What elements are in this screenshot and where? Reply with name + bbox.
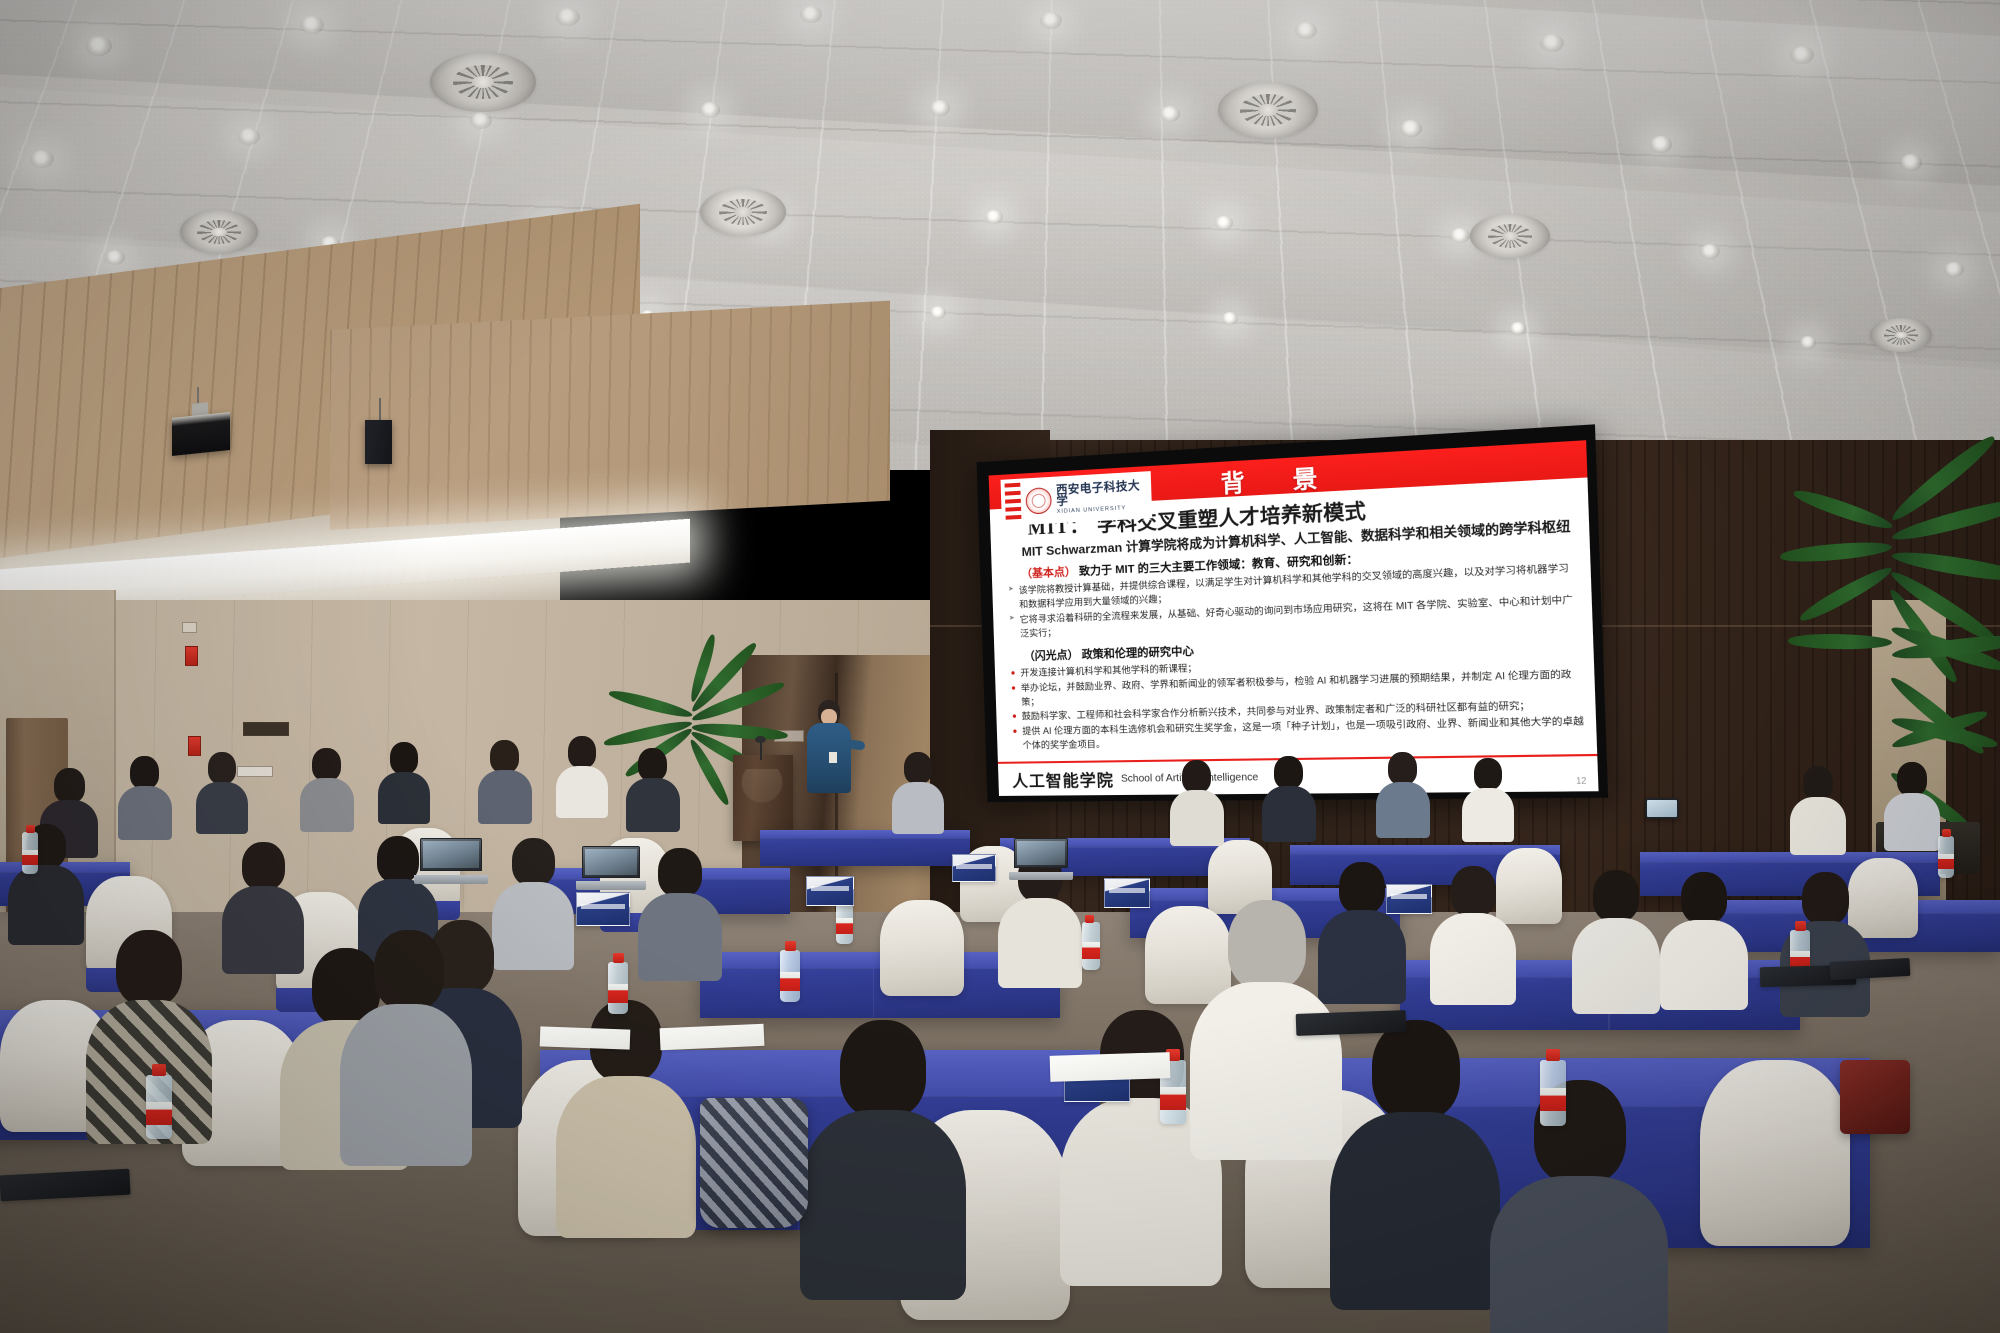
fire-alarm-pull-icon bbox=[185, 646, 198, 666]
attendee bbox=[1572, 870, 1660, 1010]
ceiling-downlight bbox=[1295, 22, 1317, 39]
name-card bbox=[806, 876, 854, 906]
attendee bbox=[1330, 1020, 1500, 1306]
ceiling-air-diffuser bbox=[1218, 82, 1318, 138]
attendee bbox=[340, 930, 472, 1162]
draped-jacket bbox=[700, 1098, 808, 1228]
ceiling-downlight bbox=[930, 306, 946, 319]
wall-outlet-icon bbox=[182, 622, 197, 633]
attendee bbox=[626, 748, 680, 830]
ceiling-downlight bbox=[1650, 136, 1672, 153]
attendee bbox=[196, 752, 248, 832]
attendee bbox=[378, 742, 430, 822]
attendee bbox=[1790, 766, 1846, 852]
conference-table bbox=[760, 830, 970, 866]
ceiling-downlight bbox=[105, 250, 125, 265]
presenter-badge bbox=[829, 752, 837, 763]
round-bullet-icon: ● bbox=[1011, 681, 1016, 696]
attendee-photographing bbox=[1660, 862, 1748, 1004]
water-bottle[interactable] bbox=[1082, 922, 1100, 970]
footer-org-cn: 人工智能学院 bbox=[1012, 766, 1115, 791]
lectern bbox=[733, 755, 793, 841]
ceiling-downlight bbox=[1800, 336, 1816, 349]
tablet-device[interactable] bbox=[1296, 1010, 1407, 1036]
attendee bbox=[638, 848, 722, 978]
attendee bbox=[1376, 752, 1430, 836]
ceiling-downlight bbox=[1160, 106, 1180, 122]
ceiling-air-diffuser bbox=[180, 210, 258, 254]
ceiling-downlight bbox=[30, 150, 54, 168]
ceiling-downlight bbox=[1040, 12, 1062, 29]
ceiling-air-diffuser bbox=[1870, 318, 1932, 352]
water-bottle[interactable] bbox=[146, 1075, 172, 1139]
attendee bbox=[118, 756, 172, 838]
ceiling-downlight bbox=[238, 128, 260, 145]
attendee bbox=[1462, 758, 1514, 840]
ceiling-downlight bbox=[86, 36, 112, 56]
ceiling-downlight bbox=[1450, 228, 1470, 243]
logo-stripes-icon bbox=[1005, 483, 1022, 522]
ceiling-air-diffuser bbox=[430, 52, 536, 112]
projection-screen: 背 景 西安电子科技大学 XIDIAN UNIVERSITY MIT： 学科交叉… bbox=[977, 424, 1609, 802]
document-sheet bbox=[540, 1026, 631, 1049]
attendee bbox=[478, 740, 532, 822]
water-bottle[interactable] bbox=[22, 832, 38, 874]
university-logo: 西安电子科技大学 XIDIAN UNIVERSITY bbox=[1001, 471, 1153, 526]
water-bottle[interactable] bbox=[836, 900, 853, 944]
microphone-icon bbox=[755, 736, 766, 743]
document-sheet bbox=[1050, 1052, 1171, 1082]
university-seal-icon bbox=[1025, 487, 1052, 515]
name-card bbox=[952, 854, 996, 882]
ceiling-downlight bbox=[1510, 322, 1526, 335]
slide-body: MIT： 学科交叉重塑人才培养新模式 MIT Schwarzman 计算学院将成… bbox=[990, 480, 1597, 762]
water-bottle[interactable] bbox=[608, 962, 628, 1014]
section-one-accent-label: （基本点） bbox=[1021, 566, 1076, 580]
wood-slat-paneling-upper-right bbox=[330, 301, 890, 530]
ceiling-downlight bbox=[930, 100, 950, 116]
attendee bbox=[1170, 760, 1224, 844]
room-sign bbox=[243, 722, 289, 736]
conference-room-photo: 背 景 西安电子科技大学 XIDIAN UNIVERSITY MIT： 学科交叉… bbox=[0, 0, 2000, 1333]
section-two-accent-label: （闪光点） bbox=[1024, 649, 1079, 663]
smartphone-icon[interactable] bbox=[1645, 798, 1679, 819]
laptop[interactable] bbox=[420, 838, 482, 884]
microphone-stand bbox=[760, 742, 762, 760]
presenter bbox=[805, 700, 851, 792]
attendee bbox=[800, 1020, 966, 1296]
attendee bbox=[1884, 762, 1940, 848]
name-card bbox=[576, 892, 630, 926]
arrow-bullet-icon: ➤ bbox=[1008, 584, 1014, 597]
laptop[interactable] bbox=[582, 846, 640, 890]
backpack bbox=[1840, 1060, 1910, 1134]
ceiling-air-diffuser bbox=[1470, 214, 1550, 258]
arrow-bullet-icon: ➤ bbox=[1009, 612, 1015, 625]
ceiling-downlight bbox=[1700, 244, 1720, 259]
ceiling-downlight bbox=[700, 102, 720, 118]
ceiling-downlight bbox=[1222, 312, 1238, 325]
attendee bbox=[892, 752, 944, 832]
chair bbox=[880, 900, 964, 996]
attendee bbox=[300, 748, 354, 830]
name-card bbox=[1104, 878, 1150, 908]
section-two-heading-text: 政策和伦理的研究中心 bbox=[1081, 646, 1194, 662]
ceiling-downlight bbox=[985, 210, 1003, 224]
attendee bbox=[8, 824, 84, 942]
attendee bbox=[556, 736, 608, 816]
laptop[interactable] bbox=[1014, 838, 1068, 880]
ceiling-downlight bbox=[1790, 46, 1814, 64]
document-sheet bbox=[660, 1024, 765, 1051]
name-card bbox=[1386, 884, 1432, 914]
lectern-emblem bbox=[739, 769, 785, 829]
round-bullet-icon: ● bbox=[1012, 724, 1017, 739]
water-bottle[interactable] bbox=[1938, 836, 1954, 878]
round-bullet-icon: ● bbox=[1012, 710, 1017, 725]
chair bbox=[1700, 1060, 1850, 1246]
water-bottle[interactable] bbox=[780, 950, 800, 1002]
attendee bbox=[1262, 756, 1316, 840]
ceiling-downlight bbox=[1215, 216, 1233, 230]
university-name-cn: 西安电子科技大学 bbox=[1056, 479, 1152, 508]
wall-mounted-monitor bbox=[172, 412, 230, 456]
round-bullet-icon: ● bbox=[1010, 666, 1015, 681]
ceiling-downlight bbox=[1540, 34, 1564, 52]
attendee bbox=[1430, 866, 1516, 1002]
ceiling-downlight bbox=[800, 6, 822, 23]
slide-page-number: 12 bbox=[1576, 776, 1587, 786]
ceiling-downlight bbox=[1400, 120, 1422, 137]
water-bottle[interactable] bbox=[1540, 1060, 1566, 1126]
ceiling-downlight bbox=[1944, 262, 1964, 277]
ceiling-downlight bbox=[470, 112, 492, 129]
speaker-suspension-wire bbox=[379, 398, 381, 422]
ceiling-downlight bbox=[556, 8, 580, 26]
presentation-slide: 背 景 西安电子科技大学 XIDIAN UNIVERSITY MIT： 学科交叉… bbox=[989, 440, 1599, 796]
ceiling-speaker bbox=[365, 420, 392, 464]
section-two-bullets: ● 开发连接计算机科学和其他学科的新课程； ● 举办论坛，并鼓励业界、政府、学界… bbox=[1010, 650, 1585, 753]
attendee bbox=[1490, 1080, 1668, 1333]
ceiling-air-diffuser bbox=[700, 188, 786, 236]
ceiling-downlight bbox=[1900, 154, 1922, 171]
ceiling-downlight bbox=[300, 16, 324, 34]
